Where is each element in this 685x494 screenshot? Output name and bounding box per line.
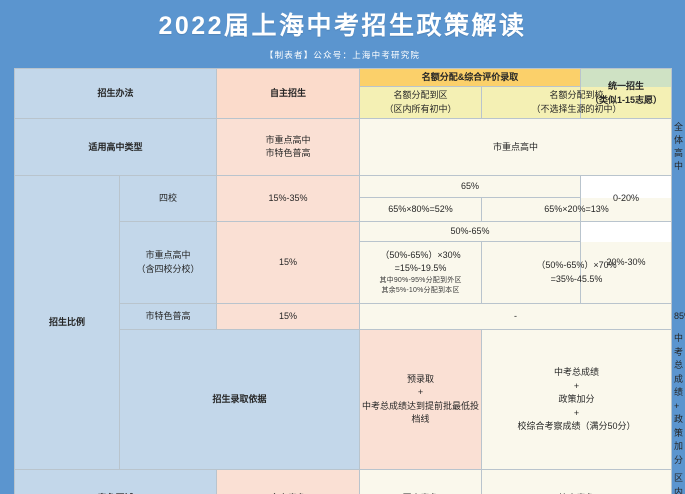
cell-ratio-zhongdian-minge-qu: （50%-65%）×30% =15%-19.5% 其中90%-95%分配到外区 … [360,242,482,304]
cell-type-zizhu-line1: 市重点高中 [219,134,357,148]
cell-ratio-sixiao-minge-xiao: 65%×20%=13% [482,198,672,222]
table-container: 招生办法 自主招生 名额分配&综合评价录取 统一招生 （类似1-15志愿） 名额… [0,68,685,494]
table-row-ratio-sixiao-total: 招生比例 四校 15%-35% 65% 0-20% [15,176,672,198]
header-cell-minge-qu: 名额分配到区 （区内所有初中） [360,87,482,119]
row-sublabel-sixiao: 四校 [120,176,217,222]
cell-basis-zizhu: 预录取 + 中考总成绩达到提前批最低投档线 [360,330,482,470]
header-cell-zizhu: 自主招生 [217,69,360,119]
table-row-region: 竞争区域 全市竞争 区内竞争 校内竞争 区内竞争 [15,470,672,494]
row-sublabel-tese: 市特色普高 [120,304,217,330]
cell-region-minge-xiao: 校内竞争 [482,470,672,494]
cell-zhongdian-xiao-line2: =35%-45.5% [484,273,669,287]
cell-zhongdian-qu-line2: =15%-19.5% [362,262,479,276]
cell-ratio-zhongdian-minge-xiao: （50%-65%）×70% =35%-45.5% [482,242,672,304]
page-subtitle: 【制表者】公众号：上海中考研究院 [0,49,685,61]
header-minge-qu-line2: （区内所有初中） [362,103,479,117]
cell-type-zizhu-line2: 市特色普高 [219,147,357,161]
cell-ratio-sixiao-minge-qu: 65%×80%=52% [360,198,482,222]
cell-ratio-zhongdian-zizhu: 15% [217,222,360,304]
cell-ratio-zhongdian-minge-total: 50%-65% [360,222,581,242]
poster-root: 2022届上海中考招生政策解读 【制表者】公众号：上海中考研究院 招生办法 自主… [0,0,685,494]
cell-region-minge-qu: 区内竞争 [360,470,482,494]
cell-ratio-sixiao-zizhu: 15%-35% [217,176,360,222]
cell-basis-minge-plus2: + [484,407,669,421]
cell-type-minge: 市重点高中 [360,119,672,176]
header-cell-label: 招生办法 [15,69,217,119]
cell-basis-zizhu-line1: 预录取 [362,373,479,387]
cell-basis-minge-plus1: + [484,380,669,394]
cell-basis-minge: 中考总成绩 + 政策加分 + 校综合考察成绩（满分50分） [482,330,672,470]
policy-table: 招生办法 自主招生 名额分配&综合评价录取 统一招生 （类似1-15志愿） 名额… [14,68,672,494]
row-label-region: 竞争区域 [15,470,217,494]
cell-ratio-tese-zizhu: 15% [217,304,360,330]
row-sublabel-zhongdian-line1: 市重点高中 [122,249,214,263]
cell-basis-minge-line2: 政策加分 [484,393,669,407]
table-header-row-1: 招生办法 自主招生 名额分配&综合评价录取 统一招生 （类似1-15志愿） [15,69,672,87]
cell-zhongdian-qu-line1: （50%-65%）×30% [362,249,479,263]
row-sublabel-zhongdian: 市重点高中 （含四校分校） [120,222,217,304]
poster-header: 2022届上海中考招生政策解读 【制表者】公众号：上海中考研究院 [0,0,685,68]
cell-ratio-tese-minge: - [360,304,672,330]
row-label-basis: 招生录取依据 [120,330,360,470]
cell-basis-minge-line1: 中考总成绩 [484,366,669,380]
cell-basis-zizhu-plus: + [362,386,479,400]
cell-basis-zizhu-line2: 中考总成绩达到提前批最低投档线 [362,400,479,427]
cell-zhongdian-qu-note1: 其中90%-95%分配到外区 [362,276,479,287]
row-sublabel-zhongdian-line2: （含四校分校） [122,263,214,277]
row-label-ratio: 招生比例 [15,176,120,470]
cell-zhongdian-qu-note2: 其余5%-10%分配到本区 [362,286,479,297]
cell-region-zizhu: 全市竞争 [217,470,360,494]
row-label-type: 适用高中类型 [15,119,217,176]
table-row-type: 适用高中类型 市重点高中 市特色普高 市重点高中 全体高中 [15,119,672,176]
page-title: 2022届上海中考招生政策解读 [0,11,685,42]
cell-type-zizhu: 市重点高中 市特色普高 [217,119,360,176]
cell-ratio-sixiao-minge-total: 65% [360,176,581,198]
header-minge-qu-line1: 名额分配到区 [362,89,479,103]
cell-basis-minge-line3: 校综合考察成绩（满分50分） [484,420,669,434]
header-cell-minge: 名额分配&综合评价录取 [360,69,581,87]
